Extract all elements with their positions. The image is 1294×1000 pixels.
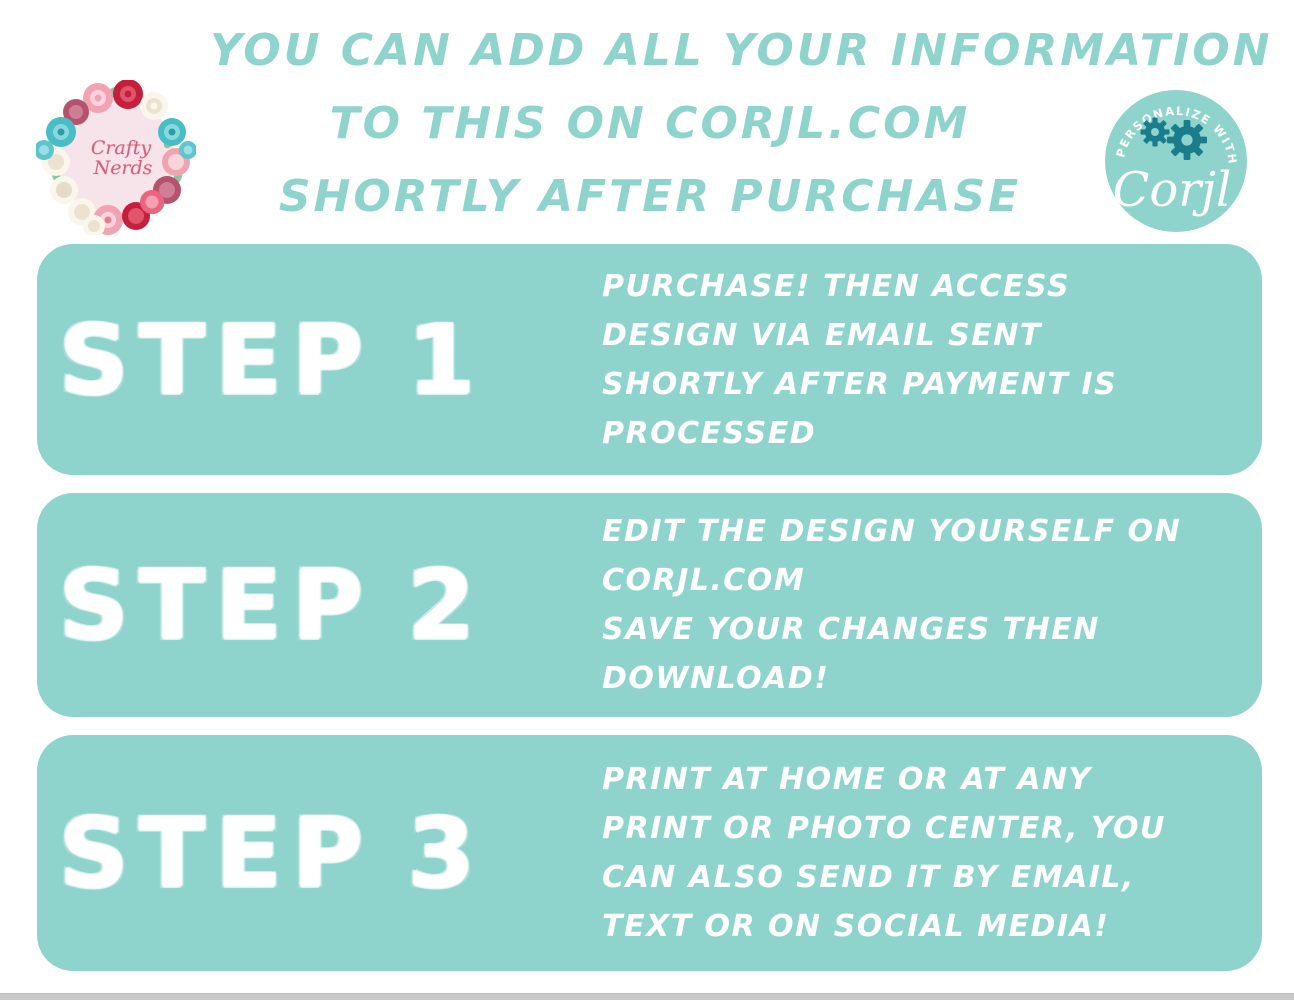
step-1-line-4: PROCESSED xyxy=(602,409,1244,458)
step-card-3: STEP 3 PRINT AT HOME OR AT ANY PRINT OR … xyxy=(37,735,1262,971)
personalize-with-corjl-icon: PERSONALIZE WITH xyxy=(1103,88,1249,234)
step-3-line-1: PRINT AT HOME OR AT ANY xyxy=(602,755,1244,804)
step-2-number: 2 xyxy=(408,557,486,653)
instruction-graphic: Crafty Nerds YOU CAN ADD ALL YOUR INFORM… xyxy=(0,0,1294,1000)
step-2-description: EDIT THE DESIGN YOURSELF ON CORJL.COM SA… xyxy=(602,507,1262,703)
page-title-line-2: TO THIS ON CORJL.COM xyxy=(210,87,1090,160)
step-1-description: PURCHASE! THEN ACCESS DESIGN VIA EMAIL S… xyxy=(602,262,1262,458)
step-card-1: STEP 1 PURCHASE! THEN ACCESS DESIGN VIA … xyxy=(37,244,1262,475)
floral-wreath-icon xyxy=(36,80,196,235)
step-card-2: STEP 2 EDIT THE DESIGN YOURSELF ON CORJL… xyxy=(37,493,1262,717)
step-1-line-1: PURCHASE! THEN ACCESS xyxy=(602,262,1244,311)
step-2-line-1: EDIT THE DESIGN YOURSELF ON xyxy=(602,507,1244,556)
header: Crafty Nerds YOU CAN ADD ALL YOUR INFORM… xyxy=(0,0,1294,240)
step-3-heading: STEP 3 xyxy=(37,805,602,901)
corjl-badge: PERSONALIZE WITH xyxy=(1103,88,1249,234)
step-3-label: STEP xyxy=(59,805,374,901)
step-2-line-3: SAVE YOUR CHANGES THEN xyxy=(602,605,1244,654)
page-title: YOU CAN ADD ALL YOUR INFORMATION TO THIS… xyxy=(210,14,1090,233)
step-2-label: STEP xyxy=(59,557,374,653)
bottom-divider-line xyxy=(0,993,1294,994)
step-2-line-2: CORJL.COM xyxy=(602,556,1244,605)
step-2-heading: STEP 2 xyxy=(37,557,602,653)
step-3-line-4: TEXT OR ON SOCIAL MEDIA! xyxy=(602,902,1244,951)
page-title-line-3: SHORTLY AFTER PURCHASE xyxy=(210,160,1090,233)
step-3-description: PRINT AT HOME OR AT ANY PRINT OR PHOTO C… xyxy=(602,755,1262,951)
bottom-divider xyxy=(0,993,1294,1000)
page-title-line-1: YOU CAN ADD ALL YOUR INFORMATION xyxy=(210,14,1090,87)
step-3-number: 3 xyxy=(408,805,486,901)
step-1-line-3: SHORTLY AFTER PAYMENT IS xyxy=(602,360,1244,409)
step-1-line-2: DESIGN VIA EMAIL SENT xyxy=(602,311,1244,360)
step-1-heading: STEP 1 xyxy=(37,312,602,408)
corjl-wordmark-text: Corjl xyxy=(1113,162,1232,218)
step-2-line-4: DOWNLOAD! xyxy=(602,654,1244,703)
steps-list: STEP 1 PURCHASE! THEN ACCESS DESIGN VIA … xyxy=(37,244,1262,971)
step-1-label: STEP xyxy=(59,312,374,408)
step-1-number: 1 xyxy=(408,312,486,408)
brand-logo: Crafty Nerds xyxy=(36,80,196,235)
step-3-line-2: PRINT OR PHOTO CENTER, YOU xyxy=(602,804,1244,853)
step-3-line-3: CAN ALSO SEND IT BY EMAIL, xyxy=(602,853,1244,902)
